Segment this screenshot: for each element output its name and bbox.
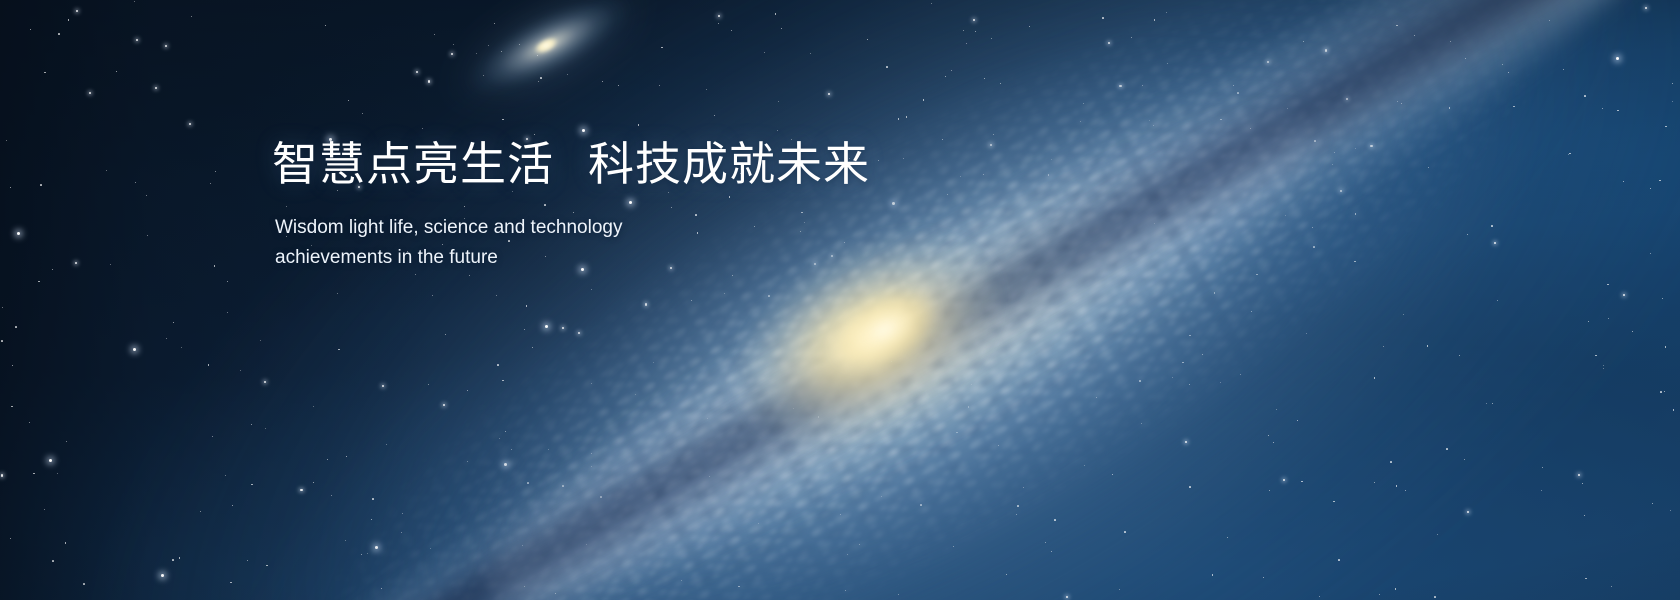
subtitle-line-1: Wisdom light life, science and technolog… xyxy=(275,213,675,243)
vignette-overlay xyxy=(0,0,1680,600)
hero-subtitle: Wisdom light life, science and technolog… xyxy=(275,213,675,273)
hero-banner: 智慧点亮生活科技成就未来 Wisdom light life, science … xyxy=(0,0,1680,600)
headline-phrase-1: 智慧点亮生活 xyxy=(272,138,554,190)
subtitle-line-2: achievements in the future xyxy=(275,243,675,273)
hero-copy: 智慧点亮生活科技成就未来 Wisdom light life, science … xyxy=(272,138,972,273)
headline-phrase-2: 科技成就未来 xyxy=(588,138,870,190)
page-title: 智慧点亮生活科技成就未来 xyxy=(272,138,972,191)
